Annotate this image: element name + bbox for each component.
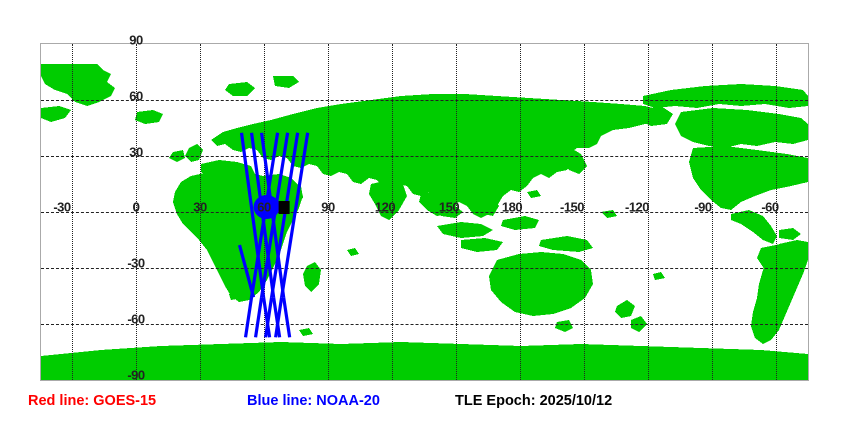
lon-tick: 150 [439,200,459,215]
lon-tick: 30 [193,200,206,215]
screenshot-root: -30 0 30 60 90 120 150 180 -150 -120 -90… [0,0,850,425]
lat-tick: 30 [129,145,142,160]
lon-tick: 120 [375,200,395,215]
lon-tick: -90 [694,200,711,215]
lon-tick: -120 [625,200,649,215]
legend-blue-line: Blue line: NOAA-20 [247,393,380,409]
legend-bar: Red line: GOES-15 Blue line: NOAA-20 TLE… [0,393,850,419]
lon-tick: -30 [53,200,70,215]
lon-tick: -60 [761,200,778,215]
legend-red-line: Red line: GOES-15 [28,393,156,409]
lat-tick: 60 [129,89,142,104]
landmass-layer [41,44,808,380]
lat-tick: -60 [127,312,144,327]
legend-tle-epoch: TLE Epoch: 2025/10/12 [455,393,612,409]
lon-tick: -150 [560,200,584,215]
lat-tick: -90 [127,368,144,383]
lat-tick: -30 [127,256,144,271]
lon-tick: 60 [257,200,270,215]
lat-tick: 90 [129,33,142,48]
lat-tick: 0 [133,200,140,215]
lon-tick: 90 [321,200,334,215]
lon-tick: 180 [502,200,522,215]
